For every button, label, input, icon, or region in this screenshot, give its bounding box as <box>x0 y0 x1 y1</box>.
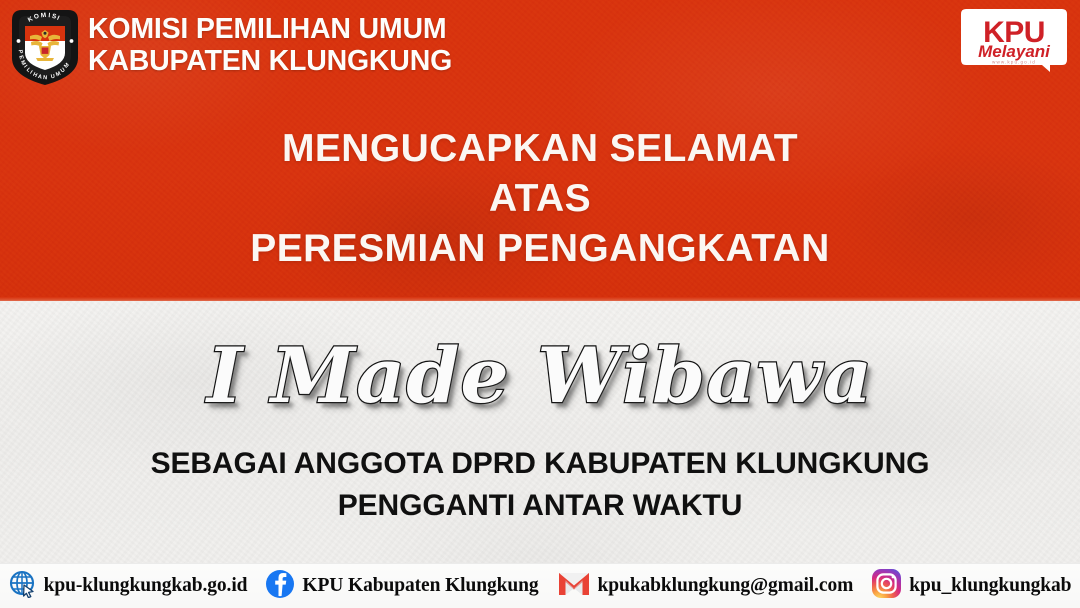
headline-line-3: PERESMIAN PENGANGKATAN <box>0 224 1080 274</box>
organization-title: KOMISI PEMILIHAN UMUM KABUPATEN KLUNGKUN… <box>88 13 688 77</box>
footer-item-email[interactable]: kpukabklungkung@gmail.com <box>548 570 863 602</box>
footer-label-facebook: KPU Kabupaten Klungkung <box>302 575 538 597</box>
footer-item-facebook[interactable]: KPU Kabupaten Klungkung <box>256 569 547 604</box>
honoree-name: I Made Wibawa <box>0 330 1080 422</box>
footer-item-website[interactable]: kpu-klungkungkab.go.id <box>0 570 256 603</box>
kpu-garuda-emblem-icon: K O M I S I P E M I L I H A N U M U <box>6 6 84 88</box>
svg-text:Melayani: Melayani <box>978 42 1051 61</box>
subtitle-block: SEBAGAI ANGGOTA DPRD KABUPATEN KLUNGKUNG… <box>0 443 1080 527</box>
org-title-line-1: KOMISI PEMILIHAN UMUM <box>88 13 688 45</box>
footer-label-website: kpu-klungkungkab.go.id <box>44 575 248 597</box>
svg-text:N: N <box>43 75 47 81</box>
svg-text:M: M <box>40 12 47 20</box>
org-title-line-2: KABUPATEN KLUNGKUNG <box>88 45 688 77</box>
footer-label-instagram: kpu_klungkungkab <box>909 575 1071 597</box>
headline-block: MENGUCAPKAN SELAMAT ATAS PERESMIAN PENGA… <box>0 124 1080 274</box>
kpu-melayani-logo-icon: KPU Melayani www.kpu.go.id <box>958 8 1070 76</box>
subtitle-line-1: SEBAGAI ANGGOTA DPRD KABUPATEN KLUNGKUNG <box>0 443 1080 485</box>
footer-item-instagram[interactable]: kpu_klungkungkab <box>862 568 1080 604</box>
headline-line-2: ATAS <box>0 174 1080 224</box>
footer-label-email: kpukabklungkung@gmail.com <box>598 575 854 597</box>
subtitle-line-2: PENGGANTI ANTAR WAKTU <box>0 485 1080 527</box>
instagram-icon <box>871 568 902 604</box>
headline-line-1: MENGUCAPKAN SELAMAT <box>0 124 1080 174</box>
kpu-congratulation-poster: K O M I S I P E M I L I H A N U M U <box>0 0 1080 608</box>
globe-icon <box>9 570 37 603</box>
svg-text:www.kpu.go.id: www.kpu.go.id <box>992 60 1036 65</box>
gmail-icon <box>557 570 591 602</box>
facebook-icon <box>265 569 295 604</box>
contact-footer-bar: kpu-klungkungkab.go.id KPU Kabupaten Klu… <box>0 563 1080 608</box>
